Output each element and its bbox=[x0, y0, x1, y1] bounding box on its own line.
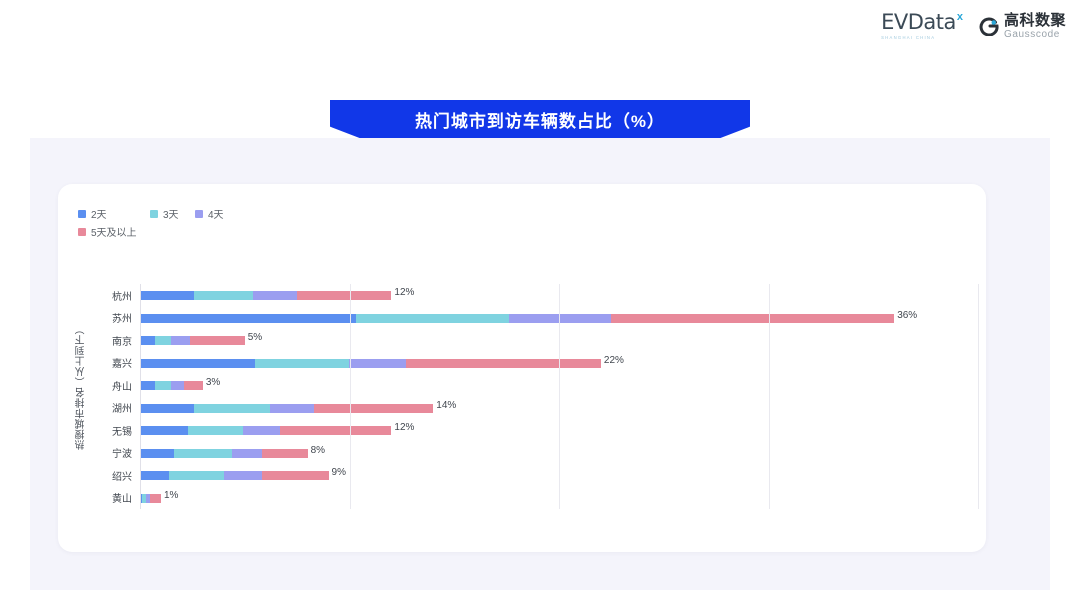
evdata-subtitle: SHANGHAI CHINA bbox=[881, 35, 935, 40]
stacked-bar[interactable] bbox=[140, 291, 391, 300]
bar-segment[interactable] bbox=[188, 426, 242, 435]
bar-segment[interactable] bbox=[140, 381, 155, 390]
logo-group: EVData x SHANGHAI CHINA 高科数聚 Gausscode bbox=[881, 12, 1066, 40]
bar-segment[interactable] bbox=[155, 336, 172, 345]
bar-row[interactable]: 绍兴9% bbox=[98, 464, 978, 487]
bar-segment[interactable] bbox=[194, 404, 269, 413]
bar-zone: 8% bbox=[140, 442, 978, 465]
bar-segment[interactable] bbox=[509, 314, 612, 323]
bar-zone: 1% bbox=[140, 487, 978, 510]
bar-segment[interactable] bbox=[140, 359, 255, 368]
stacked-bar[interactable] bbox=[140, 314, 894, 323]
bar-row-label: 苏州 bbox=[98, 310, 140, 325]
bar-segment[interactable] bbox=[314, 404, 433, 413]
bar-segment[interactable] bbox=[224, 471, 262, 480]
bar-segment[interactable] bbox=[280, 426, 391, 435]
bar-zone: 12% bbox=[140, 419, 978, 442]
chart-plot-area: 热搜城市排名（从上到下） 杭州12%苏州36%南京5%嘉兴22%舟山3%湖州14… bbox=[58, 184, 986, 552]
page-header: EVData x SHANGHAI CHINA 高科数聚 Gausscode bbox=[0, 0, 1080, 64]
page-root: EVData x SHANGHAI CHINA 高科数聚 Gausscode 热… bbox=[0, 0, 1080, 608]
bar-row[interactable]: 嘉兴22% bbox=[98, 352, 978, 375]
page-title: 热门城市到访车辆数占比（%） bbox=[415, 107, 665, 132]
bar-value-label: 3% bbox=[203, 377, 220, 388]
chart-card: 2天 3天 4天 5天及以上 热搜城市排名（从上到下） 杭州 bbox=[58, 184, 986, 552]
bar-row-label: 湖州 bbox=[98, 400, 140, 415]
bar-value-label: 5% bbox=[245, 332, 262, 343]
bar-zone: 5% bbox=[140, 329, 978, 352]
bar-value-label: 1% bbox=[161, 490, 178, 501]
bar-value-label: 36% bbox=[894, 310, 917, 321]
stacked-bar[interactable] bbox=[140, 381, 203, 390]
gausscode-en-name: Gausscode bbox=[1004, 30, 1066, 40]
bar-segment[interactable] bbox=[174, 449, 233, 458]
bar-segment[interactable] bbox=[155, 381, 172, 390]
bar-row-label: 宁波 bbox=[98, 445, 140, 460]
bar-segment[interactable] bbox=[140, 426, 188, 435]
bar-zone: 14% bbox=[140, 397, 978, 420]
bar-segment[interactable] bbox=[150, 494, 160, 503]
bar-segment[interactable] bbox=[349, 359, 406, 368]
bar-segment[interactable] bbox=[194, 291, 253, 300]
evdata-logo: EVData x SHANGHAI CHINA bbox=[881, 12, 963, 40]
bar-row-label: 绍兴 bbox=[98, 468, 140, 483]
bar-row[interactable]: 舟山3% bbox=[98, 374, 978, 397]
bar-segment[interactable] bbox=[243, 426, 281, 435]
stacked-bar[interactable] bbox=[140, 471, 329, 480]
bar-zone: 9% bbox=[140, 464, 978, 487]
bar-row[interactable]: 黄山1% bbox=[98, 487, 978, 510]
bar-row[interactable]: 杭州12% bbox=[98, 284, 978, 307]
gausscode-logo: 高科数聚 Gausscode bbox=[979, 13, 1066, 40]
gausscode-cn-name: 高科数聚 bbox=[1004, 13, 1066, 28]
bar-segment[interactable] bbox=[262, 449, 308, 458]
bar-segment[interactable] bbox=[140, 336, 155, 345]
bar-row-label: 黄山 bbox=[98, 490, 140, 505]
stacked-bar[interactable] bbox=[140, 404, 433, 413]
bar-row[interactable]: 宁波8% bbox=[98, 442, 978, 465]
bar-row-label: 无锡 bbox=[98, 423, 140, 438]
stacked-bar[interactable] bbox=[140, 359, 601, 368]
stacked-bar[interactable] bbox=[140, 449, 308, 458]
bar-segment[interactable] bbox=[611, 314, 894, 323]
bar-segment[interactable] bbox=[140, 449, 174, 458]
bar-segment[interactable] bbox=[171, 381, 184, 390]
evdata-superscript-icon: x bbox=[957, 11, 963, 23]
bar-row[interactable]: 苏州36% bbox=[98, 307, 978, 330]
bar-value-label: 8% bbox=[308, 445, 325, 456]
bar-row[interactable]: 湖州14% bbox=[98, 397, 978, 420]
bar-segment[interactable] bbox=[171, 336, 190, 345]
bar-row-label: 舟山 bbox=[98, 378, 140, 393]
bar-segment[interactable] bbox=[184, 381, 203, 390]
bar-segment[interactable] bbox=[406, 359, 601, 368]
bar-row-label: 嘉兴 bbox=[98, 355, 140, 370]
bar-row[interactable]: 无锡12% bbox=[98, 419, 978, 442]
gausscode-mark-icon bbox=[979, 16, 999, 36]
bar-value-label: 14% bbox=[433, 400, 456, 411]
bar-zone: 36% bbox=[140, 307, 978, 330]
bar-segment[interactable] bbox=[169, 471, 223, 480]
bar-value-label: 12% bbox=[391, 422, 414, 433]
bar-rows: 杭州12%苏州36%南京5%嘉兴22%舟山3%湖州14%无锡12%宁波8%绍兴9… bbox=[98, 284, 978, 509]
bar-row[interactable]: 南京5% bbox=[98, 329, 978, 352]
bar-segment[interactable] bbox=[255, 359, 349, 368]
bar-segment[interactable] bbox=[232, 449, 261, 458]
bar-segment[interactable] bbox=[297, 291, 391, 300]
stacked-bar[interactable] bbox=[140, 494, 161, 503]
bar-segment[interactable] bbox=[190, 336, 244, 345]
bar-segment[interactable] bbox=[140, 404, 194, 413]
bar-segment[interactable] bbox=[356, 314, 509, 323]
gridline bbox=[978, 284, 979, 509]
bar-segment[interactable] bbox=[253, 291, 297, 300]
bar-row-label: 杭州 bbox=[98, 288, 140, 303]
bar-row-label: 南京 bbox=[98, 333, 140, 348]
evdata-wordmark: EVData bbox=[881, 12, 956, 33]
bar-segment[interactable] bbox=[140, 291, 194, 300]
bar-segment[interactable] bbox=[140, 471, 169, 480]
bar-value-label: 22% bbox=[601, 355, 624, 366]
bar-segment[interactable] bbox=[140, 314, 356, 323]
bar-zone: 3% bbox=[140, 374, 978, 397]
bar-value-label: 12% bbox=[391, 287, 414, 298]
bar-zone: 12% bbox=[140, 284, 978, 307]
stacked-bar[interactable] bbox=[140, 426, 391, 435]
bar-segment[interactable] bbox=[262, 471, 329, 480]
stacked-bar[interactable] bbox=[140, 336, 245, 345]
bar-value-label: 9% bbox=[329, 467, 346, 478]
bar-zone: 22% bbox=[140, 352, 978, 375]
bar-segment[interactable] bbox=[270, 404, 314, 413]
y-axis-title: 热搜城市排名（从上到下） bbox=[74, 324, 90, 450]
